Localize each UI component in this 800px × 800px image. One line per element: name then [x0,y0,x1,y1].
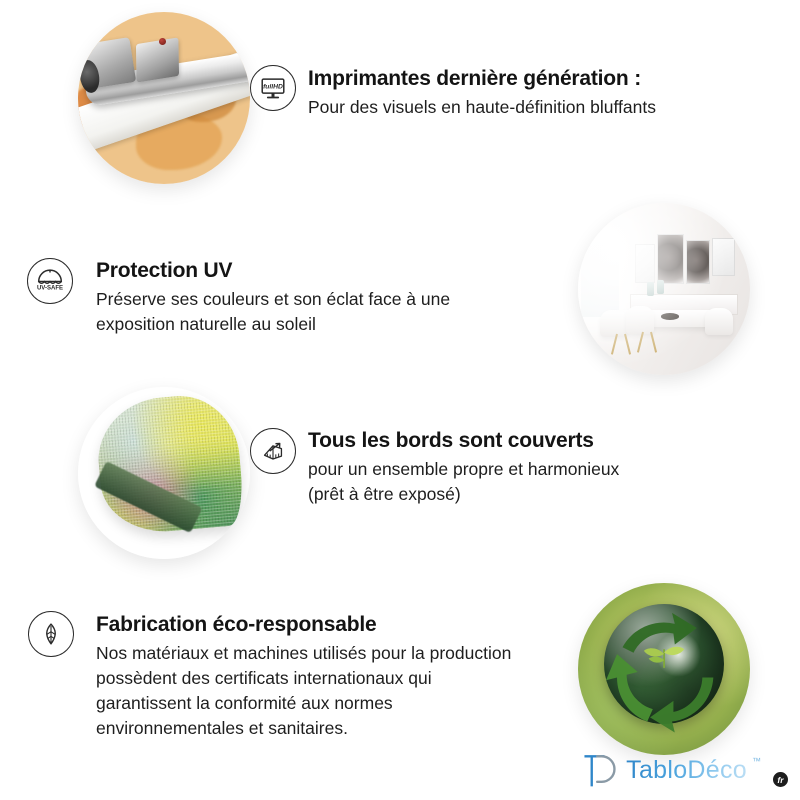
leaf-sprout-icon [640,640,688,671]
trademark-symbol: ™ [752,756,761,766]
feature-title: Protection UV [96,258,556,283]
colorful-canvas-corner-photo [78,387,250,559]
uv-safe-umbrella-icon: UV-SAFE [27,258,73,304]
feature-block-eco-manufacturing: Fabrication éco-responsable Nos matériau… [96,612,596,741]
eco-globe-scene [578,583,750,755]
tablodeco-logo[interactable]: TabloDéco ™ fr [579,750,788,790]
canvas-corner-scene [78,387,250,559]
white-dining-room-wall-art-photo [578,203,750,375]
feature-body: Nos matériaux et machines utilisés pour … [96,641,596,740]
feature-body-line: Nos matériaux et machines utilisés pour … [96,641,596,666]
leaf-icon [28,611,74,657]
dining-room-scene [578,203,750,375]
feature-body-line: possèdent des certificats internationaux… [96,666,596,691]
feature-block-uv-protection: Protection UV Préserve ses couleurs et s… [96,258,556,337]
feature-body: pour un ensemble propre et harmonieux (p… [308,457,748,507]
feature-block-covered-edges: Tous les bords sont couverts pour un ens… [308,428,748,507]
feature-title: Fabrication éco-responsable [96,612,596,637]
feature-body: Pour des visuels en haute-définition blu… [308,95,748,120]
map-print-background [78,12,250,184]
feature-body-line: Préserve ses couleurs et son éclat face … [96,287,556,312]
feature-body-line: exposition naturelle au soleil [96,312,556,337]
wrapped-canvas-edge-icon [250,428,296,474]
feature-body-line: (prêt à être exposé) [308,482,748,507]
printer-roller-map-photo [78,12,250,184]
feature-body: Préserve ses couleurs et son éclat face … [96,287,556,337]
svg-text:UV-SAFE: UV-SAFE [37,285,63,291]
td-monogram-icon [579,750,619,790]
feature-block-print-quality: Imprimantes dernière génération : Pour d… [308,66,748,120]
domain-badge: fr [773,772,788,787]
logo-wordmark: TabloDéco [626,756,749,785]
roller-mount [136,38,179,83]
feature-body-line: pour un ensemble propre et harmonieux [308,457,748,482]
fullhd-monitor-icon: fullHD [250,65,296,111]
feature-title: Imprimantes dernière génération : [308,66,748,91]
feature-infographic: fullHD Imprimantes dernière génération :… [0,0,800,800]
window-light-glow [578,203,750,375]
svg-text:fullHD: fullHD [263,83,283,90]
feature-title: Tous les bords sont couverts [308,428,748,453]
feature-body-line: Pour des visuels en haute-définition blu… [308,95,748,120]
green-earth-recycling-photo [578,583,750,755]
roller-red-dot [159,38,166,45]
feature-body-line: garantissent la conformité aux normes [96,691,596,716]
feature-body-line: environnementales et sanitaires. [96,716,596,741]
